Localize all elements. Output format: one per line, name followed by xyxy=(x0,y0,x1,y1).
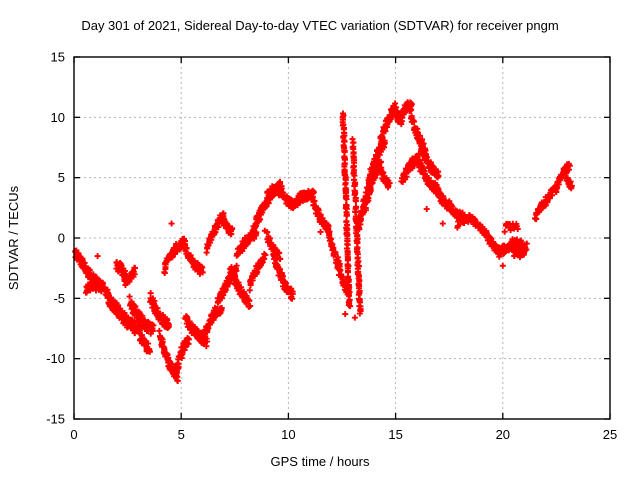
data-points xyxy=(72,99,575,384)
scatter-chart: -15-10-50510150510152025 GPS time / hour… xyxy=(0,0,640,480)
x-tick-label: 15 xyxy=(388,427,402,442)
plot-page: Day 301 of 2021, Sidereal Day-to-day VTE… xyxy=(0,0,640,480)
y-axis-title: SDTVAR / TECUs xyxy=(6,185,21,290)
x-tick-label: 20 xyxy=(496,427,510,442)
y-tick-label: 15 xyxy=(51,50,65,65)
x-tick-label: 25 xyxy=(603,427,617,442)
x-tick-label: 5 xyxy=(178,427,185,442)
y-tick-label: 10 xyxy=(51,110,65,125)
grid-lines xyxy=(74,57,610,419)
y-tick-label: -10 xyxy=(46,351,65,366)
y-tick-label: -5 xyxy=(53,291,65,306)
x-tick-label: 0 xyxy=(70,427,77,442)
y-tick-label: -15 xyxy=(46,412,65,427)
x-tick-label: 10 xyxy=(281,427,295,442)
x-axis-title: GPS time / hours xyxy=(271,454,370,469)
y-tick-label: 5 xyxy=(58,170,65,185)
y-tick-label: 0 xyxy=(58,231,65,246)
